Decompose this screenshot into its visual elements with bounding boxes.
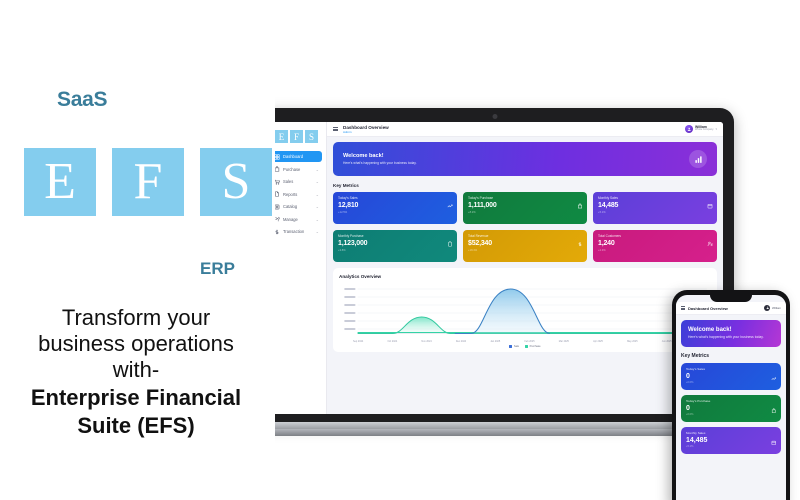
trending-up-icon xyxy=(771,368,777,374)
chevron-down-icon: ⌄ xyxy=(316,229,319,234)
laptop-lid: E F S Dashboard Purchase ⌄ Sales ⌄ xyxy=(256,108,734,424)
sidebar-item-purchase[interactable]: Purchase ⌄ xyxy=(271,164,322,175)
phone-topbar: Dashboard Overview William xyxy=(676,302,786,315)
tagline-line-1: Transform your xyxy=(0,305,272,331)
bag-icon xyxy=(771,400,777,406)
phone-welcome-heading: Welcome back! xyxy=(688,327,774,333)
chevron-down-icon: ⌄ xyxy=(316,167,319,172)
metric-label: Monthly Sales xyxy=(598,196,712,200)
sidebar-label: Transaction xyxy=(283,229,313,234)
legend-label: Purchase xyxy=(530,345,541,348)
user-role: Whole Company xyxy=(695,129,713,132)
x-tick: Nov 2024 xyxy=(421,340,431,343)
legend-label: Sale xyxy=(514,345,519,348)
sidebar-logo: E F S xyxy=(271,130,322,143)
chart-svg xyxy=(339,283,711,339)
metric-label: Today's Purchase xyxy=(468,196,582,200)
metric-cards-grid: Today's Sales 12,810 +12.5% Today's Purc… xyxy=(333,192,717,262)
sidebar: E F S Dashboard Purchase ⌄ Sales ⌄ xyxy=(267,122,327,414)
topbar: Dashboard Overview Admin William Whole C… xyxy=(327,122,723,137)
legend-item-purchase[interactable]: Purchase xyxy=(525,345,540,348)
legend-swatch xyxy=(525,345,528,348)
metric-label: Today's Sales xyxy=(338,196,452,200)
chevron-down-icon: ⌄ xyxy=(316,179,319,184)
sidebar-item-dashboard[interactable]: Dashboard xyxy=(271,151,322,162)
metric-label: Monthly Sales xyxy=(686,431,776,435)
metric-card-total-customers[interactable]: Total Customers 1,240 +2.3% xyxy=(593,230,717,262)
metric-value: 1,111,000 xyxy=(468,202,582,209)
metric-value: 0 xyxy=(686,405,776,412)
key-metrics-title: Key Metrics xyxy=(333,183,717,188)
metric-label: Total Revenue xyxy=(468,234,582,238)
hamburger-menu-icon[interactable] xyxy=(333,127,338,131)
page-subtitle: Admin xyxy=(343,130,389,134)
sidebar-label: Purchase xyxy=(283,167,313,172)
calendar-icon xyxy=(771,432,777,438)
metric-value: 1,240 xyxy=(598,240,712,247)
main-area: Dashboard Overview Admin William Whole C… xyxy=(327,122,723,414)
erp-tag: ERP xyxy=(200,259,235,279)
phone-key-metrics-title: Key Metrics xyxy=(681,353,781,359)
sidebar-label: Manage xyxy=(283,217,313,222)
sidebar-logo-letter-s: S xyxy=(305,130,318,143)
tagline-bold-2: Suite (EFS) xyxy=(0,413,272,439)
chart-x-labels: Sep 2024 Oct 2024 Nov 2024 Dec 2024 Jan … xyxy=(339,340,711,343)
sidebar-logo-letter-f: F xyxy=(290,130,303,143)
dollar-icon xyxy=(577,234,583,240)
metric-label: Monthly Purchase xyxy=(338,234,452,238)
metric-card-monthly-purchase[interactable]: Monthly Purchase 1,123,000 +3.8% xyxy=(333,230,457,262)
promo-panel: SaaS E F S ERP Transform your business o… xyxy=(0,0,275,500)
welcome-banner: Welcome back! Here's what's happening wi… xyxy=(333,142,717,176)
x-tick: Jan 2025 xyxy=(490,340,500,343)
legend-item-sale[interactable]: Sale xyxy=(509,345,519,348)
efs-logo-letter-f: F xyxy=(112,148,184,216)
sidebar-label: Catalog xyxy=(283,204,313,209)
metric-delta: +0.0% xyxy=(686,381,776,384)
metric-card-todays-sales[interactable]: Today's Sales 12,810 +12.5% xyxy=(333,192,457,224)
x-tick: Sep 2024 xyxy=(353,340,363,343)
x-tick: Mar 2025 xyxy=(559,340,569,343)
metric-delta: +18.4% xyxy=(468,249,582,252)
sidebar-item-sales[interactable]: Sales ⌄ xyxy=(271,176,322,187)
sidebar-label: Dashboard xyxy=(283,154,319,159)
tagline: Transform your business operations with-… xyxy=(0,305,272,439)
metric-delta: +8.2% xyxy=(468,211,582,214)
clipboard-icon xyxy=(447,234,453,240)
tagline-bold-1: Enterprise Financial xyxy=(0,385,272,411)
page-title: Dashboard Overview xyxy=(343,125,389,130)
metric-label: Today's Purchase xyxy=(686,399,776,403)
metric-delta: +0.0% xyxy=(686,413,776,416)
webcam-icon xyxy=(493,114,498,119)
x-tick: Apr 2025 xyxy=(593,340,603,343)
bar-chart-icon xyxy=(689,150,707,168)
analytics-chart[interactable] xyxy=(339,283,711,339)
hamburger-menu-icon[interactable] xyxy=(681,306,685,309)
metric-delta: +5.1% xyxy=(598,211,712,214)
x-tick: Feb 2025 xyxy=(524,340,534,343)
x-tick: Oct 2024 xyxy=(387,340,397,343)
laptop-screen: E F S Dashboard Purchase ⌄ Sales ⌄ xyxy=(267,122,723,414)
metric-value: $52,340 xyxy=(468,240,582,247)
phone-metric-card-todays-sales[interactable]: Today's Sales 0 +0.0% xyxy=(681,363,781,390)
chevron-down-icon: ⌄ xyxy=(316,192,319,197)
chart-legend: Sale Purchase xyxy=(339,345,711,348)
chevron-down-icon: ⌄ xyxy=(316,217,319,222)
metric-delta: +2.3% xyxy=(598,249,712,252)
efs-logo-letter-s: S xyxy=(200,148,272,216)
metric-card-todays-purchase[interactable]: Today's Purchase 1,111,000 +8.2% xyxy=(463,192,587,224)
phone-welcome-banner: Welcome back! Here's what's happening wi… xyxy=(681,320,781,347)
phone-user-name: William xyxy=(772,306,781,310)
phone-content: Welcome back! Here's what's happening wi… xyxy=(676,315,786,464)
efs-logo-letter-e: E xyxy=(24,148,96,216)
x-tick: May 2025 xyxy=(627,340,638,343)
sidebar-item-transaction[interactable]: Transaction ⌄ xyxy=(271,226,322,237)
phone-body: Dashboard Overview William Welcome back!… xyxy=(672,290,790,500)
metric-label: Total Customers xyxy=(598,234,712,238)
metric-value: 12,810 xyxy=(338,202,452,209)
metric-value: 0 xyxy=(686,373,776,380)
x-tick: Jun 2025 xyxy=(662,340,672,343)
metric-delta: +3.8% xyxy=(338,249,452,252)
metric-value: 1,123,000 xyxy=(338,240,452,247)
chevron-down-icon: ▾ xyxy=(715,127,717,131)
legend-swatch xyxy=(509,345,512,348)
phone-page-title: Dashboard Overview xyxy=(688,306,728,311)
phone-notch xyxy=(710,295,752,302)
metric-value: 14,485 xyxy=(686,437,776,444)
bag-icon xyxy=(577,196,583,202)
calendar-icon xyxy=(707,196,713,202)
sidebar-item-catalog[interactable]: Catalog ⌄ xyxy=(271,201,322,212)
phone-welcome-subtext: Here's what's happening with your busine… xyxy=(688,335,774,339)
analytics-panel: Analytics Overview xyxy=(333,268,717,352)
welcome-subtext: Here's what's happening with your busine… xyxy=(343,161,689,165)
phone-mockup: Dashboard Overview William Welcome back!… xyxy=(672,290,790,500)
efs-logo-blocks: E F S xyxy=(24,148,272,216)
analytics-title: Analytics Overview xyxy=(339,274,711,279)
sidebar-item-manage[interactable]: Manage ⌄ xyxy=(271,214,322,225)
sidebar-item-reports[interactable]: Reports ⌄ xyxy=(271,189,322,200)
saas-tag: SaaS xyxy=(57,88,107,112)
trending-up-icon xyxy=(447,196,453,202)
tagline-line-2: business operations xyxy=(0,331,272,357)
metric-delta: +12.5% xyxy=(338,211,452,214)
user-menu[interactable]: William Whole Company ▾ xyxy=(685,125,717,133)
phone-metric-card-monthly-sales[interactable]: Monthly Sales 14,485 +5.1% xyxy=(681,427,781,454)
user-chart-icon xyxy=(707,234,713,240)
phone-screen: Dashboard Overview William Welcome back!… xyxy=(676,295,786,500)
metric-card-monthly-sales[interactable]: Monthly Sales 14,485 +5.1% xyxy=(593,192,717,224)
metric-value: 14,485 xyxy=(598,202,712,209)
chevron-down-icon: ⌄ xyxy=(316,204,319,209)
dashboard-content: Welcome back! Here's what's happening wi… xyxy=(327,137,723,414)
metric-label: Today's Sales xyxy=(686,367,776,371)
sidebar-logo-letter-e: E xyxy=(275,130,288,143)
sidebar-label: Reports xyxy=(283,192,313,197)
avatar xyxy=(685,125,693,133)
x-tick: Dec 2024 xyxy=(456,340,466,343)
phone-metric-card-todays-purchase[interactable]: Today's Purchase 0 +0.0% xyxy=(681,395,781,422)
phone-user-menu[interactable]: William xyxy=(764,305,781,311)
welcome-heading: Welcome back! xyxy=(343,153,689,159)
sidebar-label: Sales xyxy=(283,179,313,184)
metric-delta: +5.1% xyxy=(686,445,776,448)
avatar xyxy=(764,305,770,311)
tagline-line-3: with- xyxy=(0,357,272,383)
metric-card-total-revenue[interactable]: Total Revenue $52,340 +18.4% xyxy=(463,230,587,262)
